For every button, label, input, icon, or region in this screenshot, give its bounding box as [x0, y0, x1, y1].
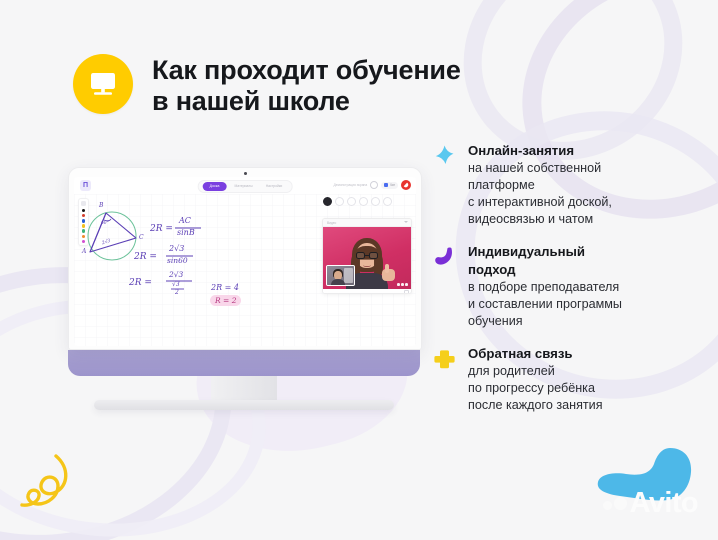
formula2-bar: [166, 255, 193, 257]
promo-card: Как проходит обучение в нашей школе Π До…: [0, 0, 718, 540]
resize-handle-icon[interactable]: [404, 290, 409, 294]
whiteboard-canvas[interactable]: B A C 60° 2√3 2R = AC sinB 2R = 2√3 sin: [74, 194, 416, 346]
feature-line: обучения: [468, 313, 694, 330]
page-title-line2: в нашей школе: [152, 86, 461, 117]
formula1-num: AC: [179, 216, 191, 225]
feature-online-lessons: Онлайн-занятия на нашей собственной плат…: [432, 142, 694, 228]
formula3-num: 2√3: [169, 270, 183, 279]
chevron-down-icon[interactable]: [404, 221, 408, 223]
feature-line: для родителей: [468, 363, 694, 380]
formula1-bar: [175, 227, 201, 229]
avito-logo: Avito: [603, 489, 698, 518]
formula3-den-den: 2: [175, 289, 179, 296]
tab-board[interactable]: Доска: [203, 182, 227, 191]
feature-individual-approach: Индивидуальный подход в подборе преподав…: [432, 243, 694, 330]
chat-icon: [384, 183, 388, 187]
student-thumbnail[interactable]: [326, 265, 355, 286]
tab-settings[interactable]: Настройки: [261, 182, 288, 191]
video-panel-header: Видео: [323, 219, 411, 227]
app-tabs: Доска Материалы Настройки: [198, 180, 293, 194]
vertex-label-c: C: [139, 234, 144, 241]
monitor-icon: [73, 54, 133, 114]
squiggle-decoration: [12, 452, 98, 523]
thumbs-up-icon: [382, 264, 395, 281]
formula1-den: sinB: [177, 228, 195, 237]
result-highlight: R = 2: [210, 295, 241, 306]
avito-wordmark: Avito: [630, 489, 698, 518]
vertex-label-a: A: [82, 248, 86, 255]
video-panel[interactable]: Видео: [322, 218, 412, 294]
video-panel-title: Видео: [327, 221, 336, 225]
chat-chip[interactable]: Чат: [381, 182, 398, 189]
chat-chip-label: Чат: [390, 183, 395, 187]
monitor-chin: [68, 350, 420, 376]
feature-title: Онлайн-занятия: [468, 142, 694, 159]
monitor-stand: [211, 376, 277, 400]
feature-title: Индивидуальный: [468, 243, 694, 260]
gear-icon[interactable]: [370, 181, 378, 189]
header: Как проходит обучение в нашей школе: [73, 54, 461, 118]
result-2r: 2R = 4: [211, 283, 239, 292]
formula2-den: sin60: [167, 256, 188, 265]
feature-line: видеосвязью и чатом: [468, 211, 694, 228]
star-icon: [432, 142, 457, 228]
feature-line: после каждого занятия: [468, 397, 694, 414]
feature-list: Онлайн-занятия на нашей собственной плат…: [432, 142, 694, 413]
feature-feedback: Обратная связь для родителей по прогресс…: [432, 345, 694, 414]
angle-label: 60°: [101, 221, 109, 226]
feature-line: по прогрессу ребёнка: [468, 380, 694, 397]
formula2-num: 2√3: [169, 244, 184, 253]
formula3-bar: [166, 280, 192, 282]
page-title-line1: Как проходит обучение: [152, 55, 461, 85]
monitor-mockup: Π Доска Материалы Настройки Демонстрация…: [68, 167, 420, 410]
feature-title: Обратная связь: [468, 345, 694, 362]
app-top-bar: Π Доска Материалы Настройки Демонстрация…: [74, 177, 416, 195]
avito-dots-icon: [603, 497, 627, 510]
formula1-lhs: 2R =: [150, 224, 173, 234]
whiteboard-app: Π Доска Материалы Настройки Демонстрация…: [74, 177, 416, 346]
app-bar-actions: Демонстрация экрана Чат: [334, 180, 412, 190]
webcam-dot: [244, 172, 247, 175]
feature-title-2: подход: [468, 261, 694, 278]
feature-line: с интерактивной доской,: [468, 194, 694, 211]
teacher-smile: [363, 262, 371, 267]
monitor-base: [94, 400, 394, 410]
end-call-icon[interactable]: [401, 180, 411, 190]
plus-icon: [432, 345, 457, 414]
video-panel-footer: [323, 289, 411, 293]
crescent-icon: [432, 243, 457, 330]
feature-line: на нашей собственной: [468, 160, 694, 177]
formula3-den-num: √3: [172, 281, 180, 288]
tab-materials[interactable]: Материалы: [230, 182, 258, 191]
feature-line: и составлении программы: [468, 296, 694, 313]
avito-watermark: Avito: [576, 446, 704, 532]
vertex-label-b: B: [99, 202, 103, 209]
formula2-lhs: 2R =: [134, 252, 157, 262]
formula3-inner-bar: [171, 288, 184, 290]
more-dots-icon[interactable]: [397, 283, 408, 286]
formula3-lhs: 2R =: [129, 278, 152, 288]
app-logo-icon: Π: [80, 180, 91, 191]
screen-share-status: Демонстрация экрана: [334, 183, 368, 187]
video-feed: [323, 227, 411, 289]
feature-line: в подборе преподавателя: [468, 279, 694, 296]
page-title: Как проходит обучение в нашей школе: [152, 54, 461, 118]
monitor-screen: Π Доска Материалы Настройки Демонстрация…: [68, 167, 422, 350]
teacher-glasses-icon: [356, 252, 378, 259]
feature-line: платформе: [468, 177, 694, 194]
